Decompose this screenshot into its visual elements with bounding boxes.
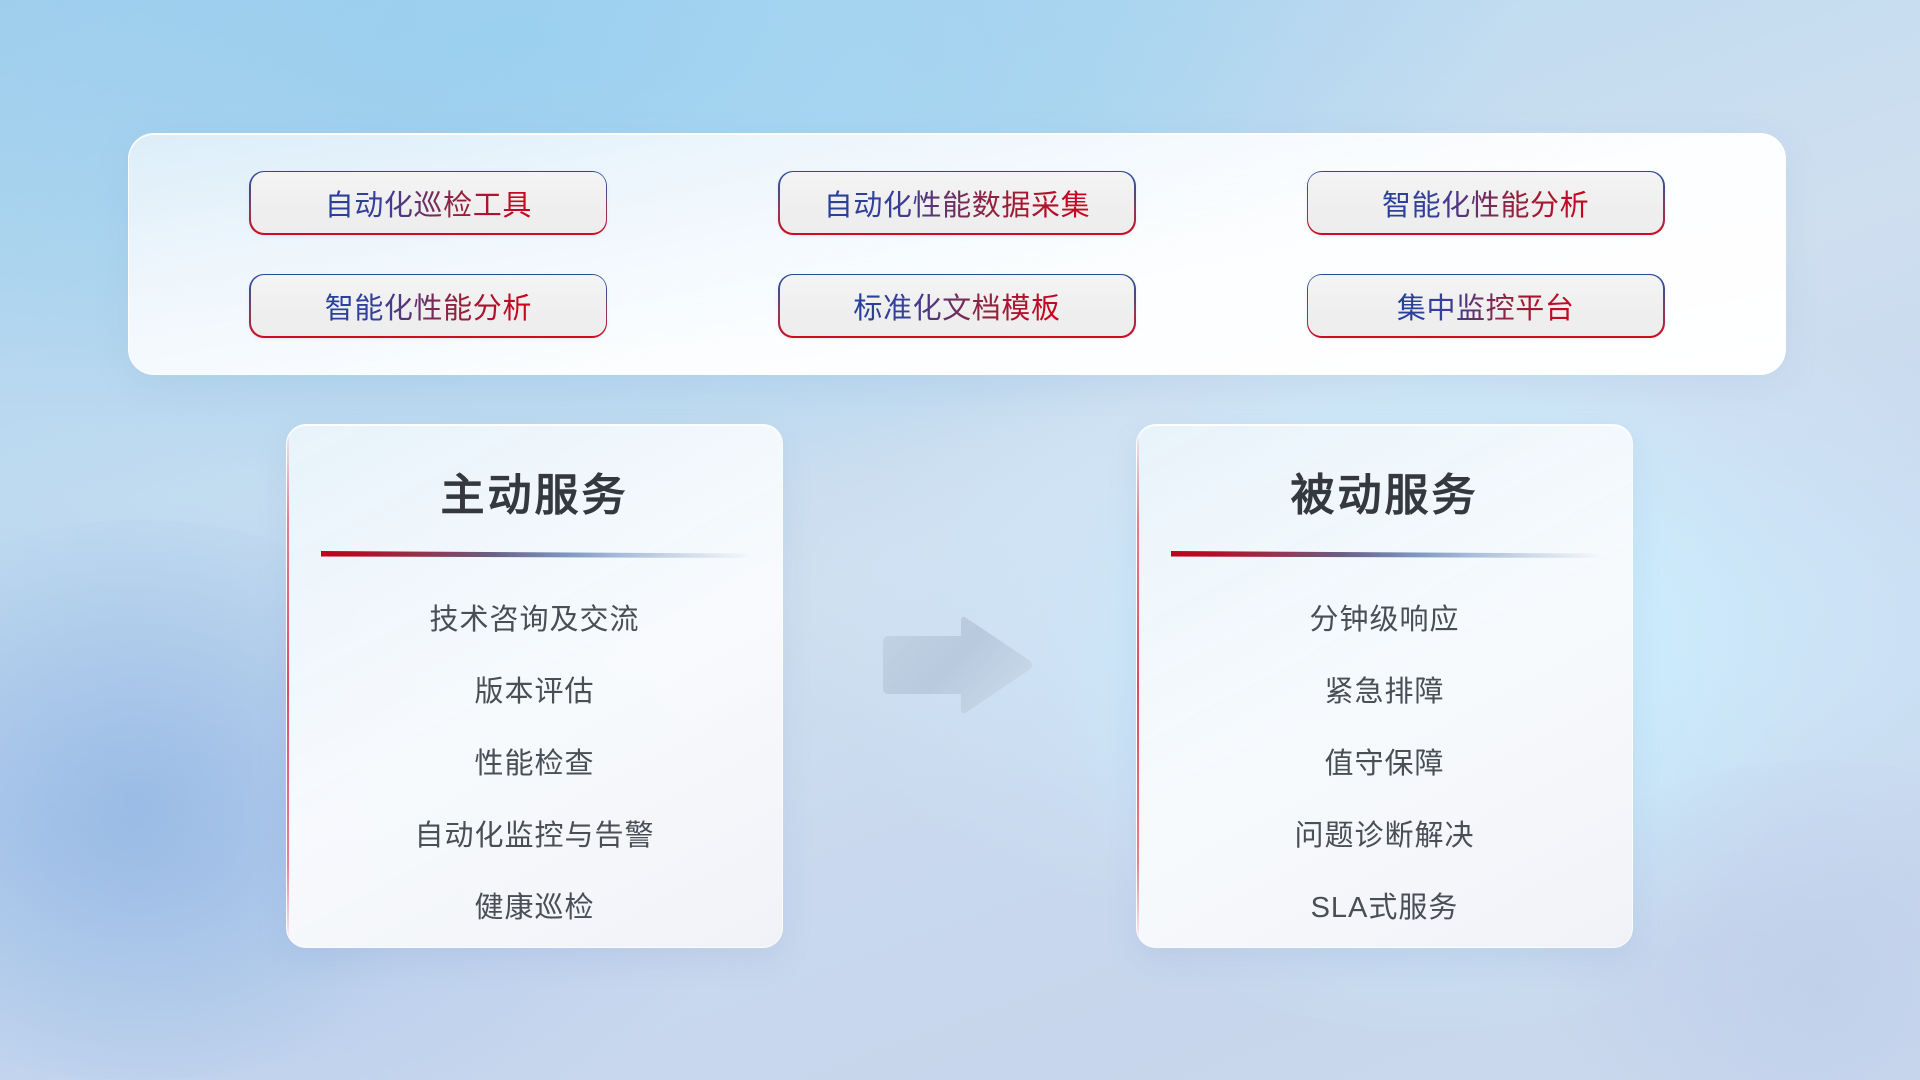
service-list-item: 紧急排障 bbox=[1324, 668, 1444, 710]
card-divider bbox=[1171, 551, 1599, 558]
capability-pill-surface: 智能化性能分析 bbox=[1308, 172, 1663, 233]
capability-pill-surface: 标准化文档模板 bbox=[780, 275, 1135, 336]
capability-pill[interactable]: 集中监控平台 bbox=[1307, 274, 1665, 338]
capability-pill-surface: 自动化巡检工具 bbox=[251, 172, 606, 233]
service-card-passive[interactable]: 被动服务 分钟级响应 紧急排障 值守保障 问题诊断解决 SLA式服务 bbox=[1136, 424, 1633, 948]
capability-pill[interactable]: 自动化巡检工具 bbox=[249, 171, 607, 235]
capability-pill[interactable]: 智能化性能分析 bbox=[249, 274, 607, 338]
capability-pill-label: 智能化性能分析 bbox=[1382, 182, 1589, 224]
capability-pill-grid: 自动化巡检工具 自动化性能数据采集 智能化性能分析 智能化性能分析 bbox=[129, 134, 1785, 374]
service-list-item: 问题诊断解决 bbox=[1294, 812, 1474, 854]
capability-pill[interactable]: 自动化性能数据采集 bbox=[778, 171, 1136, 235]
service-list-item: 自动化监控与告警 bbox=[414, 812, 654, 854]
service-list-item: 健康巡检 bbox=[474, 884, 594, 926]
capability-pill-surface: 集中监控平台 bbox=[1308, 275, 1663, 336]
capability-pill-label: 自动化性能数据采集 bbox=[824, 182, 1090, 224]
service-card-title: 被动服务 bbox=[1137, 459, 1632, 523]
arrow-right-icon bbox=[877, 612, 1037, 720]
service-list-item: 性能检查 bbox=[474, 740, 594, 782]
capability-pill-surface: 自动化性能数据采集 bbox=[780, 172, 1135, 233]
service-item-list: 分钟级响应 紧急排障 值守保障 问题诊断解决 SLA式服务 bbox=[1137, 596, 1632, 926]
service-list-item: 技术咨询及交流 bbox=[429, 596, 639, 638]
capability-pill-surface: 智能化性能分析 bbox=[251, 275, 606, 336]
capability-pill-label: 自动化巡检工具 bbox=[325, 182, 532, 224]
capability-pill[interactable]: 标准化文档模板 bbox=[778, 274, 1136, 338]
service-list-item: 值守保障 bbox=[1324, 740, 1444, 782]
service-list-item: SLA式服务 bbox=[1311, 884, 1459, 926]
service-list-item: 分钟级响应 bbox=[1309, 596, 1459, 638]
capability-pill-label: 智能化性能分析 bbox=[325, 285, 532, 327]
slide-canvas: 自动化巡检工具 自动化性能数据采集 智能化性能分析 智能化性能分析 bbox=[0, 0, 1920, 1080]
capability-pill[interactable]: 智能化性能分析 bbox=[1307, 171, 1665, 235]
service-item-list: 技术咨询及交流 版本评估 性能检查 自动化监控与告警 健康巡检 bbox=[287, 596, 782, 926]
card-divider bbox=[321, 551, 749, 558]
capability-pill-label: 集中监控平台 bbox=[1397, 285, 1575, 327]
service-card-active[interactable]: 主动服务 技术咨询及交流 版本评估 性能检查 自动化监控与告警 健康巡检 bbox=[286, 424, 783, 948]
service-card-title: 主动服务 bbox=[287, 459, 782, 523]
capability-pill-label: 标准化文档模板 bbox=[853, 285, 1060, 327]
service-list-item: 版本评估 bbox=[474, 668, 594, 710]
capability-panel: 自动化巡检工具 自动化性能数据采集 智能化性能分析 智能化性能分析 bbox=[128, 133, 1786, 375]
